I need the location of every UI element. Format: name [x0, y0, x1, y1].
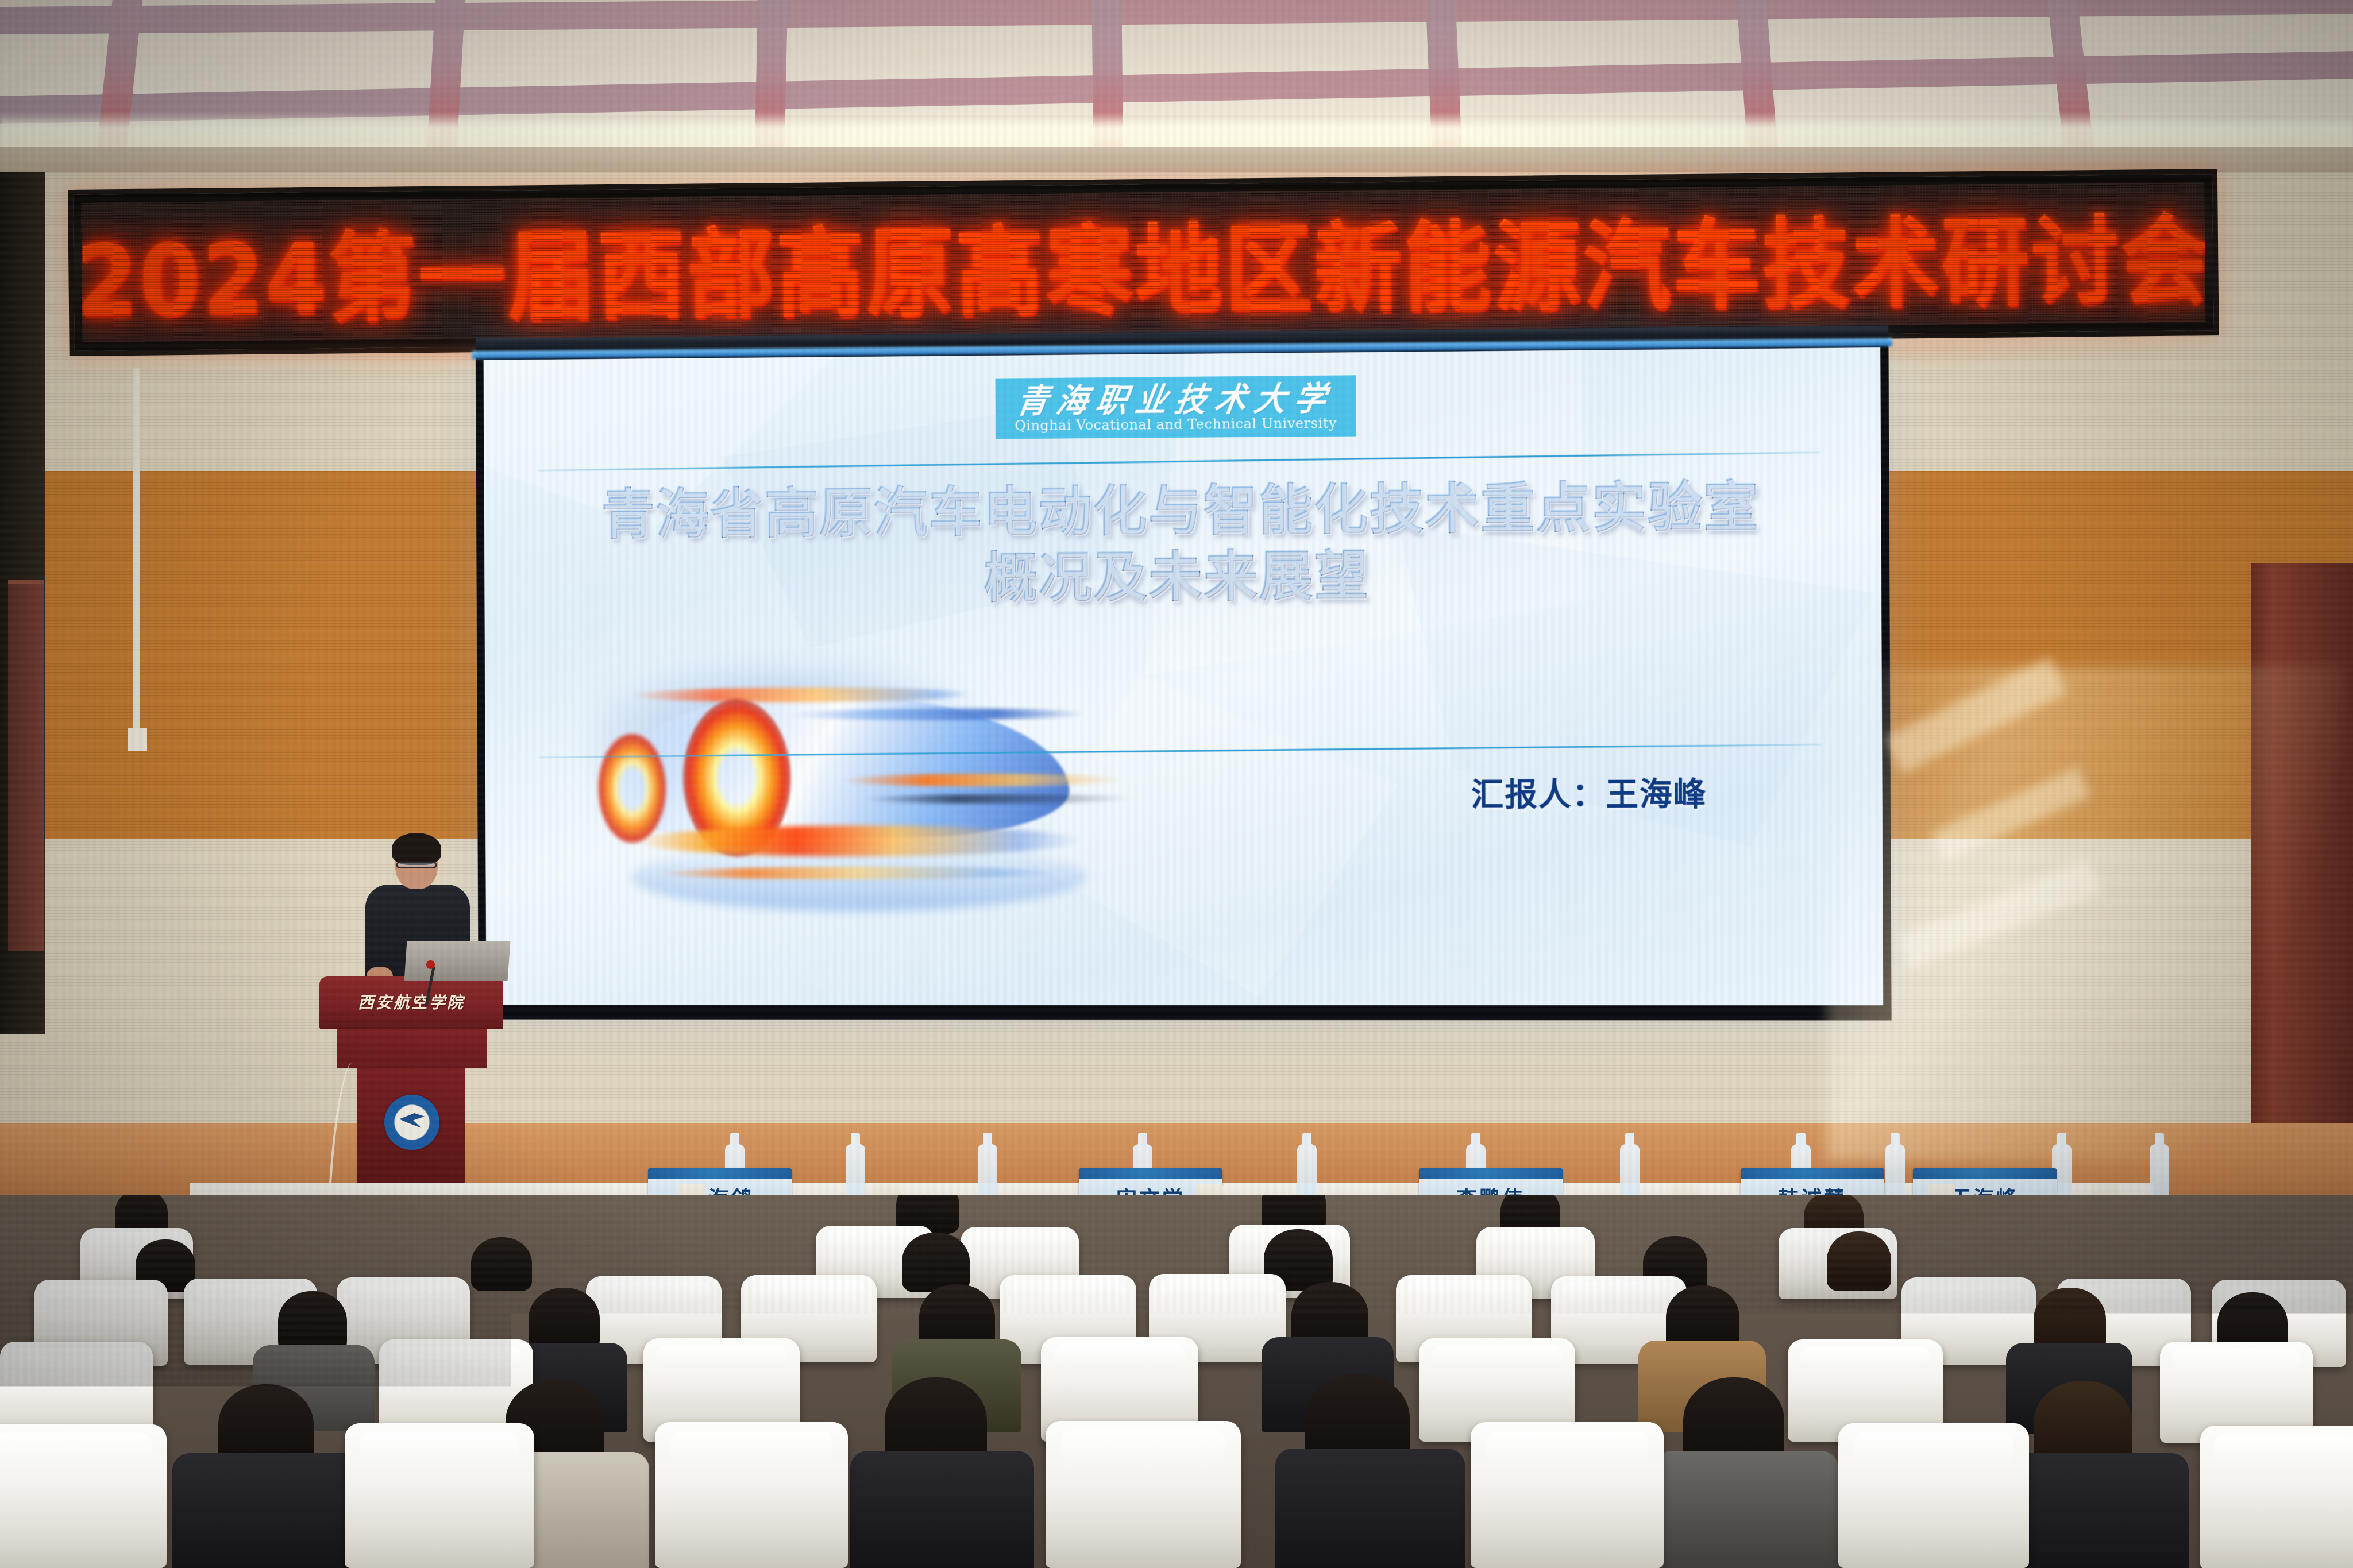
- podium-institution-text: 西安航空学院: [319, 990, 503, 1013]
- chair[interactable]: [655, 1422, 848, 1568]
- neon-car-illustration: [546, 652, 1127, 923]
- wall-outlet: [128, 728, 147, 751]
- chair[interactable]: [1471, 1422, 1664, 1568]
- chair[interactable]: [345, 1423, 534, 1568]
- slide-presenter: 汇报人：王海峰: [1471, 768, 1707, 816]
- laptop[interactable]: [404, 941, 511, 981]
- podium: 西安航空学院: [319, 976, 503, 1183]
- hall-side-door[interactable]: [2251, 563, 2353, 1126]
- attendee-coat: [1654, 1451, 1838, 1568]
- chair[interactable]: [1046, 1421, 1241, 1568]
- chair[interactable]: [0, 1424, 167, 1568]
- presentation-slide: 青海职业技术大学 Qinghai Vocational and Technica…: [484, 347, 1884, 1005]
- ceiling: [0, 0, 2353, 190]
- attendee: [471, 1237, 532, 1291]
- attendee-coat: [172, 1453, 362, 1568]
- attendee: [902, 1233, 970, 1292]
- attendee: [278, 1291, 347, 1353]
- slide-title-line1: 青海省高原汽车电动化与智能化技术重点实验室: [484, 474, 1881, 549]
- chair[interactable]: [1838, 1423, 2029, 1568]
- slide-title-line2: 概况及未来展望: [484, 540, 1881, 615]
- attendee-coat: [2005, 1453, 2189, 1568]
- attendee-coat: [1275, 1449, 1465, 1568]
- university-crest-icon: [384, 1095, 439, 1150]
- microphone-icon: [426, 960, 435, 969]
- led-banner: 2024第一届西部高原高寒地区新能源汽车技术研讨会: [68, 169, 2219, 356]
- wall-left-window-frame: [8, 580, 44, 951]
- led-banner-text: 2024第一届西部高原高寒地区新能源汽车技术研讨会: [81, 182, 2205, 342]
- university-logo: 青海职业技术大学 Qinghai Vocational and Technica…: [996, 375, 1356, 439]
- speaker-glasses: [396, 862, 437, 868]
- projection-screen: 青海职业技术大学 Qinghai Vocational and Technica…: [476, 336, 1892, 1021]
- audience-seating: [0, 1195, 2353, 1568]
- attendee-coat: [850, 1451, 1034, 1568]
- university-logo-cn: 青海职业技术大学: [1015, 381, 1337, 417]
- wall-conduit: [133, 368, 140, 735]
- chair[interactable]: [2200, 1426, 2353, 1568]
- conference-hall-photo: 2024第一届西部高原高寒地区新能源汽车技术研讨会 青海职业技术大学 Qingh…: [0, 0, 2353, 1568]
- attendee: [1827, 1231, 1891, 1291]
- slide-title: 青海省高原汽车电动化与智能化技术重点实验室 概况及未来展望: [484, 474, 1882, 615]
